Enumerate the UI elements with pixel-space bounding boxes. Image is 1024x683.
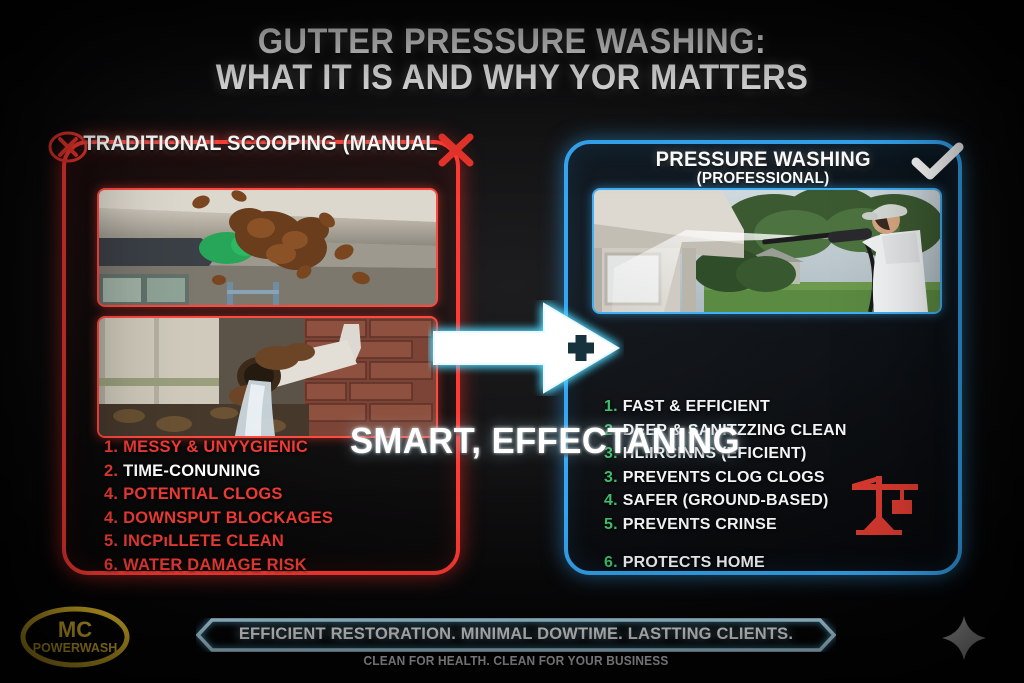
list-item-number: 6. — [604, 554, 618, 571]
red-x-icon — [436, 132, 476, 168]
footer-banner-text: EFFICIENT RESTORATION. MINIMAL DOWTIME. … — [206, 624, 827, 644]
list-item-label: TIME-CONUNING — [123, 462, 260, 480]
list-item-label: POTENTIAL CLOGS — [123, 485, 282, 503]
list-item-number: 1. — [604, 398, 618, 415]
left-panel-heading: TRADITIONAL SCOOPING (MANUAL — [84, 132, 439, 156]
list-item-label: SAFER (GROUND-BASED) — [623, 492, 829, 509]
infographic-canvas: GUTTER PRESSURE WASHING: WHAT IT IS AND … — [0, 0, 1024, 683]
panel-traditional-scooping: TRADITIONAL SCOOPING (MANUAL — [62, 140, 460, 575]
svg-text:MC: MC — [58, 617, 92, 642]
list-item-label: PREVENTS CLOG CLOGS — [623, 469, 825, 486]
list-item: 4.DOWNSPUT BLOCKAGES — [104, 510, 333, 527]
list-item: 3.PREVENTS CLOG CLOGS — [604, 470, 847, 486]
page-title: GUTTER PRESSURE WASHING: WHAT IT IS AND … — [0, 24, 1024, 97]
right-panel-heading: PRESSURE WASHING — [655, 148, 870, 172]
center-overlay-text: SMART, EFFECTANING — [350, 420, 740, 462]
title-line-1: GUTTER PRESSURE WASHING: — [36, 24, 988, 60]
photo-pressure-washing-worker — [592, 188, 942, 314]
list-item-number: 4. — [104, 509, 118, 527]
list-item: 5.INCPıLLETE CLEAN — [104, 533, 333, 550]
list-item-number: 4. — [104, 485, 118, 503]
list-item-label: PREVENTS CRINSE — [623, 516, 777, 533]
list-item: 4.POTENTIAL CLOGS — [104, 486, 333, 503]
list-item-number: 5. — [604, 516, 618, 533]
mc-powerwash-logo[interactable]: MC POWERWASH — [16, 604, 134, 670]
list-item: 6.WATER DAMAGE RISK — [104, 557, 333, 574]
list-item-label: MESSY & UNYYGIENIC — [123, 438, 308, 456]
right-panel-header: PRESSURE WASHING (PROFESSIONAL) — [568, 148, 958, 188]
list-item-label: DOWNSPUT BLOCKAGES — [123, 509, 333, 527]
list-item-label: FAST & EFFICIENT — [623, 398, 770, 415]
photo-gutter-scooping — [97, 188, 438, 307]
list-item-label: PROTECTS HOME — [623, 554, 765, 571]
construction-crane-icon — [838, 472, 930, 538]
svg-text:POWERWASH: POWERWASH — [33, 641, 118, 655]
list-item-number: 2. — [104, 462, 118, 480]
list-item-number: 6. — [104, 556, 118, 574]
footer-tagline: CLEAN FOR HEALTH. CLEAN FOR YOUR BUSINES… — [212, 654, 820, 668]
white-check-icon — [910, 142, 966, 182]
list-item: 1.FAST & EFFICIENT — [604, 399, 847, 415]
four-point-star-icon — [938, 612, 990, 664]
list-item: 6.PROTECTS HOME — [604, 555, 847, 571]
left-panel-list: 1.MESSY & UNYYGIENIC 2.TIME-CONUNING 4.P… — [104, 439, 333, 580]
right-arrow-plus-icon[interactable] — [428, 300, 624, 396]
left-panel-header: TRADITIONAL SCOOPING (MANUAL — [66, 132, 456, 156]
list-item: 4.SAFER (GROUND-BASED) — [604, 493, 847, 509]
list-item-number: 5. — [104, 532, 118, 550]
list-item: 2.TIME-CONUNING — [104, 463, 333, 480]
list-item-number: 4. — [604, 492, 618, 509]
list-item: 5.PREVENTS CRINSE — [604, 517, 847, 533]
list-item: 1.MESSY & UNYYGIENIC — [104, 439, 333, 456]
right-panel-subheading: (PROFESSIONAL) — [578, 170, 949, 188]
list-item-label: INCPıLLETE CLEAN — [123, 532, 284, 550]
list-item-number: 1. — [104, 438, 118, 456]
list-item-number: 3. — [604, 469, 618, 486]
title-line-2: WHAT IT IS AND WHY YOR MATTERS — [36, 60, 988, 96]
list-item-label: WATER DAMAGE RISK — [123, 556, 307, 574]
